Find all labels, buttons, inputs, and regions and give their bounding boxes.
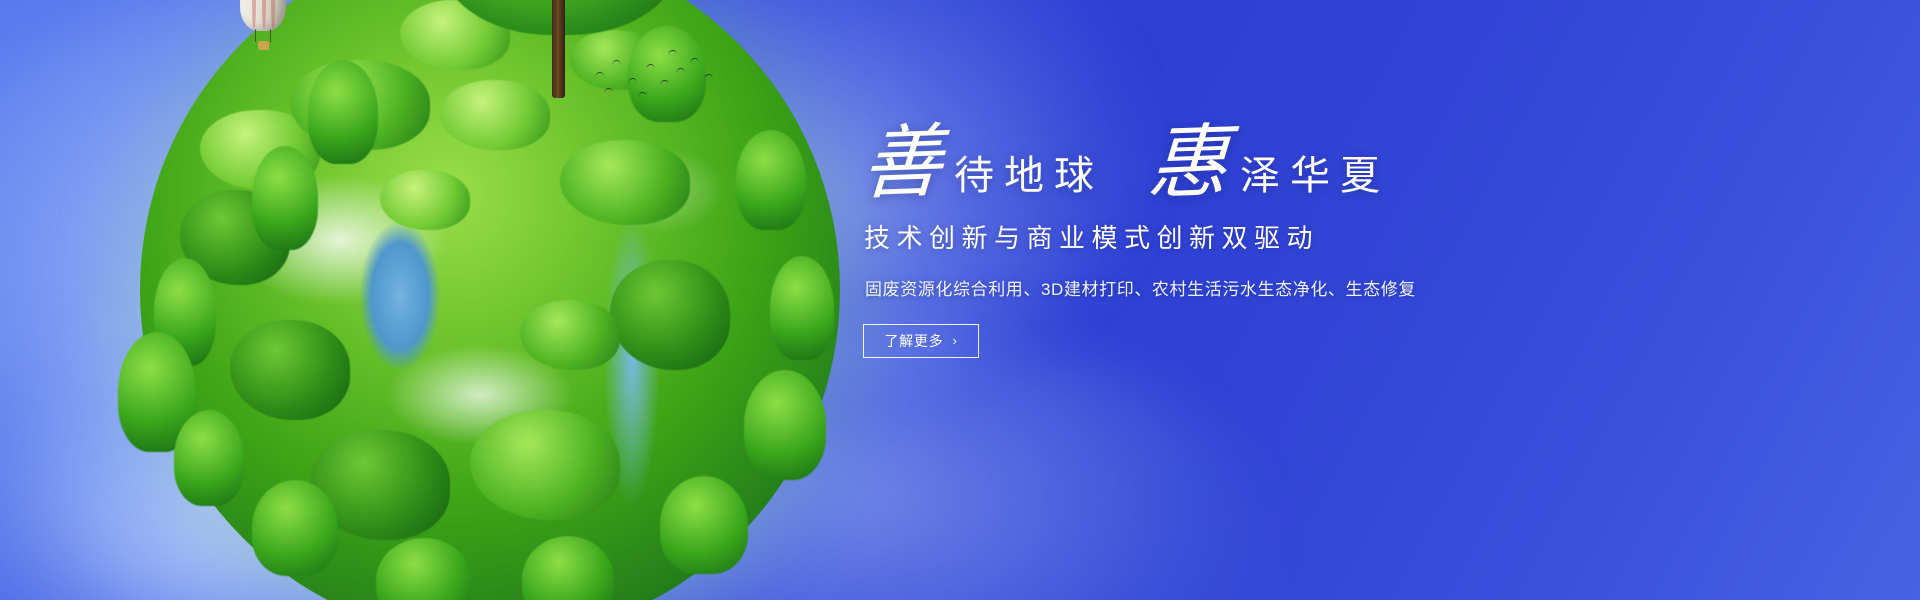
headline-rest-1: 待地球 [944, 156, 1104, 202]
hero-banner: 善 待地球 惠 泽华夏 技术创新与商业模式创新双驱动 固废资源化综合利用、3D建… [0, 0, 1920, 600]
chevron-right-icon: › [953, 334, 958, 347]
hero-copy: 善 待地球 惠 泽华夏 技术创新与商业模式创新双驱动 固废资源化综合利用、3D建… [862, 128, 1502, 358]
headline-lead-2: 惠 [1146, 127, 1232, 203]
headline-lead-1: 善 [860, 127, 946, 203]
page-title: 善 待地球 惠 泽华夏 [862, 128, 1502, 202]
hero-description: 固废资源化综合利用、3D建材打印、农村生活污水生态净化、生态修复 [865, 275, 1502, 300]
hero-tree [440, 0, 680, 90]
bird-icon [660, 80, 669, 86]
bird-icon [668, 50, 677, 56]
headline-rest-2: 泽华夏 [1230, 156, 1390, 202]
balloon-basket [258, 41, 269, 50]
learn-more-button[interactable]: 了解更多 › [863, 324, 979, 358]
bird-icon [595, 72, 604, 78]
tree-trunk [552, 0, 565, 98]
hero-subtitle: 技术创新与商业模式创新双驱动 [864, 218, 1502, 255]
bird-icon [704, 74, 713, 80]
bird-icon [676, 68, 685, 74]
bird-icon [690, 58, 699, 64]
bird-icon [646, 64, 655, 70]
bird-icon [604, 88, 613, 94]
tiny-planet-image [140, 0, 840, 600]
bird-icon [612, 60, 621, 66]
bird-icon [638, 92, 647, 98]
bird-icon [628, 78, 637, 84]
hot-air-balloon-icon [240, 0, 286, 51]
learn-more-label: 了解更多 [884, 331, 943, 351]
